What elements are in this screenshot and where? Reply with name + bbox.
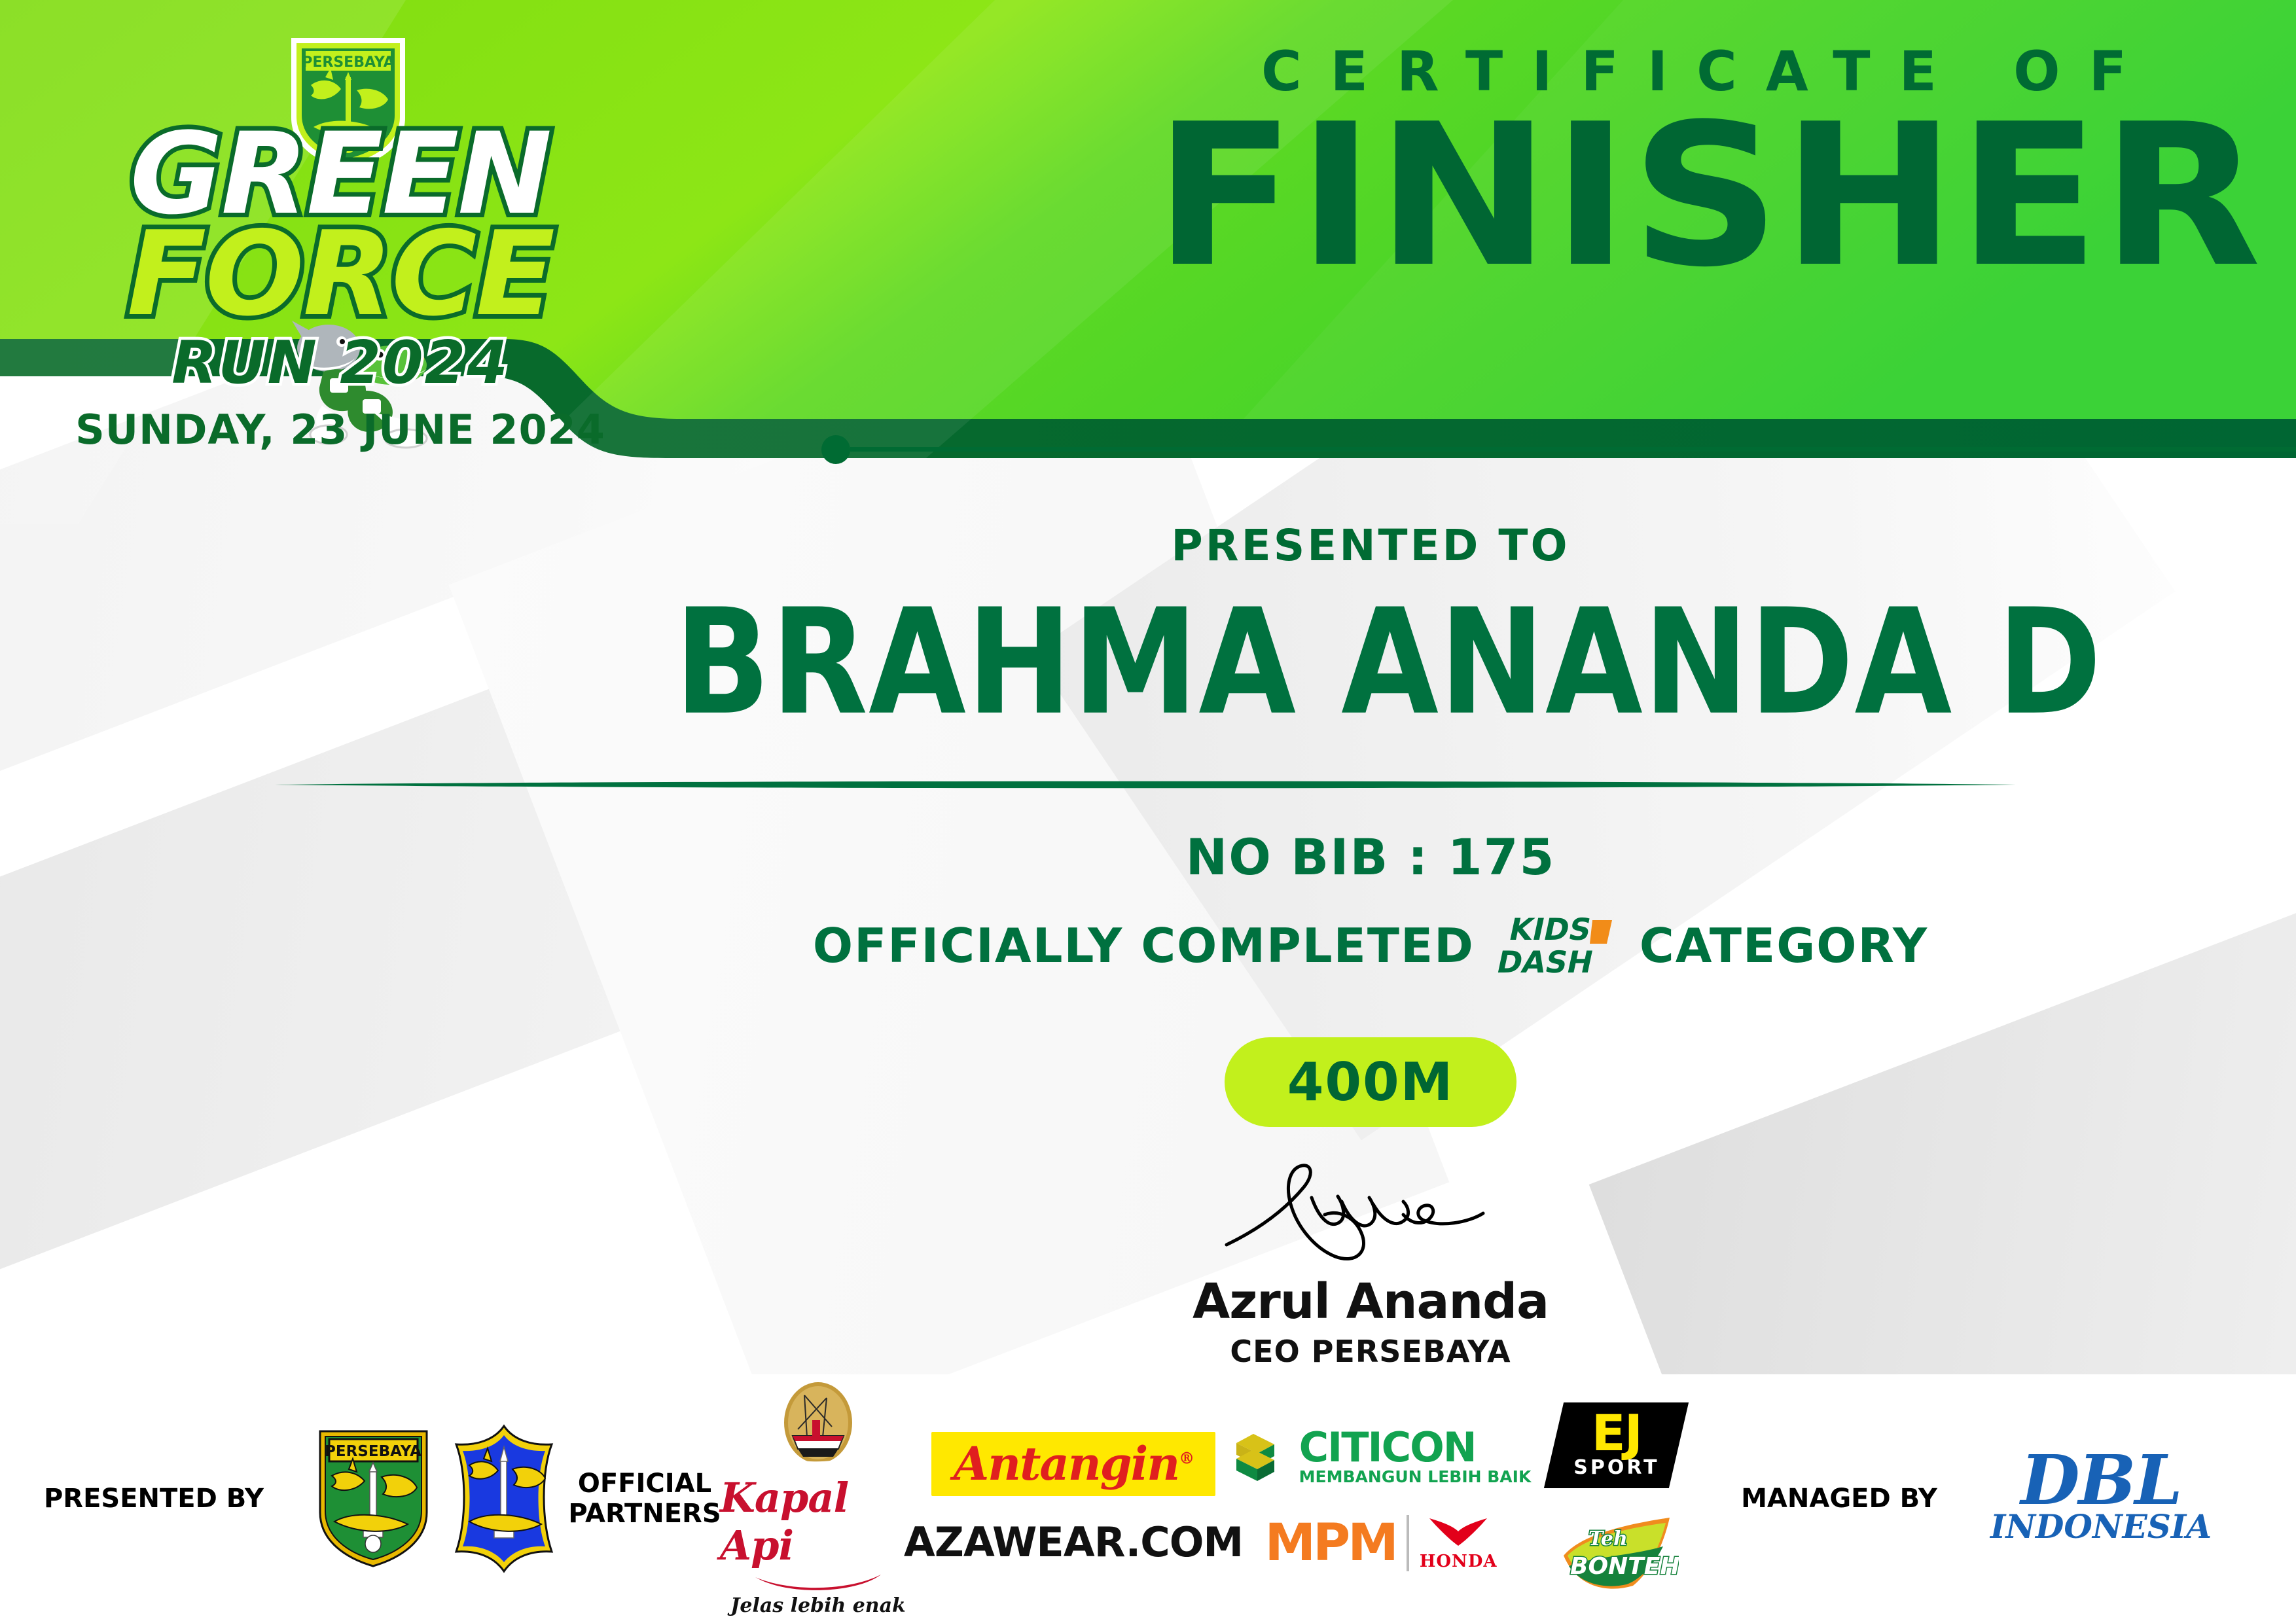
mpm-honda-logo: MPM HONDA <box>1265 1515 1497 1571</box>
citicon-logo: CITICON MEMBANGUN LEBIH BAIK <box>1231 1426 1532 1489</box>
recipient-name: BRAHMA ANANDA D <box>0 582 2296 743</box>
presented-by-label: PRESENTED BY <box>44 1484 264 1514</box>
official-partners-label-cell: OFFICIAL PARTNERS <box>569 1469 720 1529</box>
sponsor-antangin-azawear: Antangin® AZAWEAR.COM <box>916 1432 1230 1566</box>
antangin-logo: Antangin® <box>931 1432 1215 1496</box>
ej-sport-logo: EJ SPORT <box>1544 1402 1689 1488</box>
honda-wing-icon <box>1427 1516 1490 1548</box>
sponsor-persebaya: PERSEBAYA <box>308 1429 439 1569</box>
sponsor-footer: PRESENTED BY PERSEBAYA <box>0 1374 2296 1623</box>
distance-badge: 400M <box>1225 1037 1517 1127</box>
ej-wordmark: EJ <box>1574 1410 1660 1456</box>
mpm-divider <box>1407 1515 1409 1571</box>
honda-wordmark: HONDA <box>1420 1552 1498 1571</box>
kids-dash-orange-mark <box>1590 920 1612 944</box>
presented-by-label-cell: PRESENTED BY <box>0 1484 308 1514</box>
sponsor-kapal-api: Kapal Api Jelas lebih enak <box>720 1381 916 1617</box>
managed-by-label: MANAGED BY <box>1741 1484 1937 1514</box>
sponsor-citicon-mpm: CITICON MEMBANGUN LEBIH BAIK MPM HONDA <box>1230 1426 1532 1571</box>
completed-suffix: CATEGORY <box>1640 918 1928 973</box>
distance-badge-wrap: 400M <box>0 1037 2296 1127</box>
sponsor-ej-bonteh: EJ SPORT Teh BONTEH <box>1532 1402 1702 1596</box>
managed-by-label-cell: MANAGED BY <box>1702 1484 1977 1514</box>
official-partners-line2: PARTNERS <box>568 1499 721 1529</box>
citicon-cube-icon <box>1231 1426 1290 1489</box>
signature-block: Azrul Ananda CEO PERSEBAYA <box>0 1152 2296 1369</box>
teh-bonteh-logo: Teh BONTEH <box>1554 1510 1679 1595</box>
signature-icon <box>1187 1152 1554 1270</box>
completed-prefix: OFFICIALLY COMPLETED <box>813 918 1475 973</box>
category-line: OFFICIALLY COMPLETED KIDS DASH CATEGORY <box>0 910 2296 982</box>
persebaya-crest-icon: PERSEBAYA <box>316 1429 431 1569</box>
accent-line <box>850 447 2296 452</box>
name-divider <box>275 780 2016 789</box>
kids-dash-logo: KIDS DASH <box>1492 910 1623 982</box>
ej-sport-tagline: SPORT <box>1574 1455 1660 1478</box>
signatory-name: Azrul Ananda <box>445 1274 2296 1330</box>
kapal-api-tagline: Jelas lebih enak <box>730 1594 906 1617</box>
official-partners-label: OFFICIAL PARTNERS <box>568 1469 721 1529</box>
accent-dot-line <box>821 435 2296 461</box>
bib-number: NO BIB : 175 <box>0 828 2296 886</box>
accent-dot <box>821 435 850 464</box>
sponsor-dbl-indonesia: DBL INDONESIA <box>1977 1452 2225 1545</box>
antangin-wordmark: Antangin® <box>954 1441 1193 1487</box>
kids-dash-line1: KIDS <box>1506 912 1594 946</box>
teh-bonteh-line2: BONTEH <box>1570 1553 1679 1580</box>
kapal-api-wordmark: Kapal Api <box>720 1474 916 1569</box>
crest-wordmark: PERSEBAYA <box>325 1443 422 1460</box>
dbl-wordmark: DBL <box>2020 1452 2181 1509</box>
sponsor-surabaya-city <box>439 1423 569 1574</box>
official-partners-line1: OFFICIAL <box>568 1469 721 1499</box>
teh-bonteh-line1: Teh <box>1588 1527 1628 1550</box>
citicon-wordmark: CITICON <box>1299 1429 1532 1467</box>
azawear-wordmark: AZAWEAR.COM <box>904 1518 1243 1566</box>
kapal-api-ship-icon <box>776 1381 861 1472</box>
citicon-tagline: MEMBANGUN LEBIH BAIK <box>1299 1467 1532 1486</box>
dbl-indonesia-tagline: INDONESIA <box>1990 1507 2212 1546</box>
kids-dash-line2: DASH <box>1494 944 1596 979</box>
certificate-canvas: PERSEBAYA GREEN FORCE <box>0 0 2296 1623</box>
mpm-wordmark: MPM <box>1265 1518 1395 1569</box>
kapal-api-swoosh-icon <box>753 1571 884 1593</box>
surabaya-city-crest-icon <box>454 1423 555 1574</box>
presented-to-label: PRESENTED TO <box>0 520 2296 571</box>
signatory-role: CEO PERSEBAYA <box>445 1334 2296 1369</box>
